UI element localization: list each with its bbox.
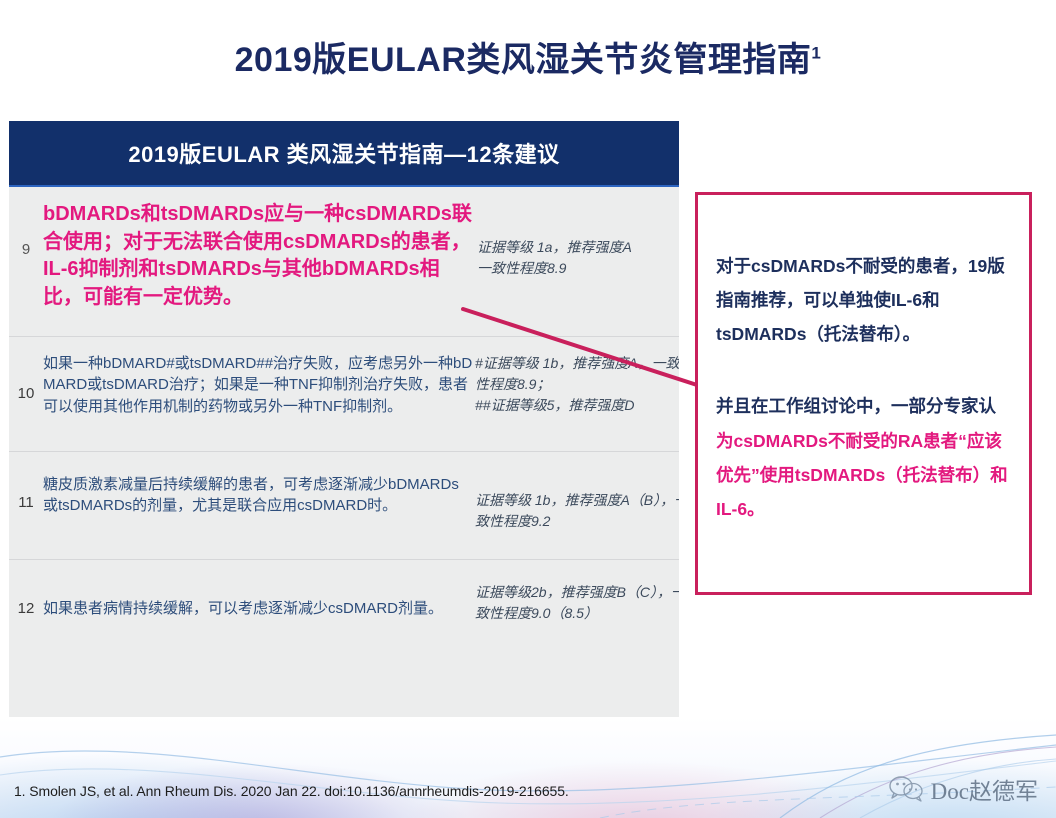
row-evidence-text: 证据等级 1a，推荐强度A 一致性程度8.9 — [477, 237, 679, 279]
table-header-title: 2019版EULAR 类风湿关节指南—12条建议 — [128, 137, 559, 169]
row-body: 糖皮质激素减量后持续缓解的患者，可考虑逐渐减少bDMARDs或tsDMARDs的… — [43, 474, 679, 532]
table-row: 12 如果患者病情持续缓解，可以考虑逐渐减少csDMARD剂量。 证据等级2b，… — [9, 560, 679, 670]
table-header: 2019版EULAR 类风湿关节指南—12条建议 — [9, 121, 679, 187]
citation-reference: 1. Smolen JS, et al. Ann Rheum Dis. 2020… — [14, 783, 569, 799]
row-evidence-text: #证据等级 1b，推荐强度A，一致性程度8.9； ##证据等级5，推荐强度D — [475, 353, 679, 416]
row-recommendation-text: 糖皮质激素减量后持续缓解的患者，可考虑逐渐减少bDMARDs或tsDMARDs的… — [43, 474, 473, 517]
page-title-text: 2019版EULAR类风湿关节炎管理指南 — [235, 41, 812, 79]
row-evidence-text: 证据等级2b，推荐强度B（C），一致性程度9.0（8.5） — [475, 582, 679, 624]
row-number: 9 — [9, 241, 43, 259]
recommendation-table: 2019版EULAR 类风湿关节指南—12条建议 9 bDMARDs和tsDMA… — [9, 121, 679, 717]
callout-paragraph-1: 对于csDMARDs不耐受的患者，19版指南推荐，可以单独使IL-6和tsDMA… — [716, 249, 1011, 351]
table-row: 10 如果一种bDMARD#或tsDMARD##治疗失败，应考虑另外一种bDMA… — [9, 337, 679, 452]
callout-paragraph-2-magenta: 为csDMARDs不耐受的RA患者“应该优先”使用tsDMARDs（托法替布）和… — [716, 431, 1008, 519]
watermark: Doc赵德军 — [889, 772, 1038, 806]
table-row: 11 糖皮质激素减量后持续缓解的患者，可考虑逐渐减少bDMARDs或tsDMAR… — [9, 452, 679, 560]
row-recommendation-text: 如果患者病情持续缓解，可以考虑逐渐减少csDMARD剂量。 — [43, 598, 473, 619]
wechat-icon — [889, 776, 923, 802]
watermark-label: Doc赵德军 — [931, 772, 1038, 806]
page-title: 2019版EULAR类风湿关节炎管理指南1 — [0, 32, 1056, 81]
row-recommendation-text: 如果一种bDMARD#或tsDMARD##治疗失败，应考虑另外一种bDMARD或… — [43, 353, 473, 417]
row-body: bDMARDs和tsDMARDs应与一种csDMARDs联合使用；对于无法联合使… — [43, 201, 679, 311]
page-title-superscript: 1 — [811, 44, 821, 63]
row-body: 如果一种bDMARD#或tsDMARD##治疗失败，应考虑另外一种bDMARD或… — [43, 353, 679, 417]
table-row: 9 bDMARDs和tsDMARDs应与一种csDMARDs联合使用；对于无法联… — [9, 187, 679, 337]
row-number: 10 — [9, 385, 43, 403]
row-body: 如果患者病情持续缓解，可以考虑逐渐减少csDMARD剂量。 证据等级2b，推荐强… — [43, 582, 679, 624]
callout-box: 对于csDMARDs不耐受的患者，19版指南推荐，可以单独使IL-6和tsDMA… — [695, 192, 1032, 595]
row-number: 11 — [9, 494, 43, 512]
row-recommendation-text: bDMARDs和tsDMARDs应与一种csDMARDs联合使用；对于无法联合使… — [43, 201, 475, 311]
row-evidence-text: 证据等级 1b，推荐强度A（B），一致性程度9.2 — [475, 490, 679, 532]
callout-paragraph-2-navy: 并且在工作组讨论中，一部分专家认 — [716, 396, 996, 416]
row-number: 12 — [9, 600, 43, 618]
callout-paragraph-2: 并且在工作组讨论中，一部分专家认为csDMARDs不耐受的RA患者“应该优先”使… — [716, 389, 1011, 526]
